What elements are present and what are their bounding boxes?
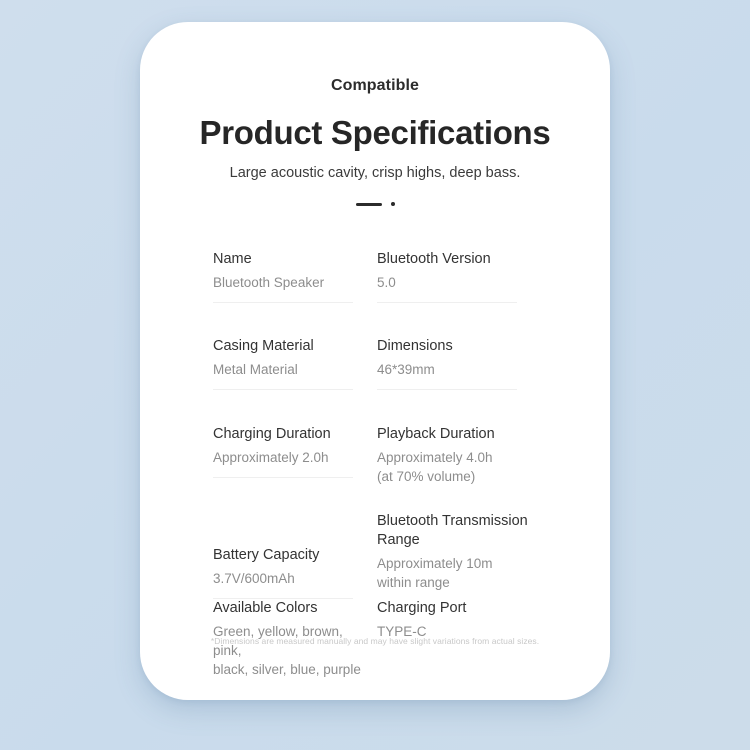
spec-value: Metal Material (213, 360, 365, 379)
dot-icon (391, 202, 395, 206)
table-row: Battery Capacity 3.7V/600mAh Bluetooth T… (213, 512, 541, 599)
spec-value: 46*39mm (377, 360, 529, 379)
table-row: Charging Duration Approximately 2.0h Pla… (213, 425, 541, 512)
cell-separator (377, 496, 517, 497)
spec-value: Bluetooth Speaker (213, 273, 365, 292)
spec-cell-available-colors: Available Colors Green, yellow, brown, p… (213, 599, 377, 669)
spec-cell-bluetooth-transmission-range: Bluetooth Transmission Range Approximate… (377, 512, 541, 599)
spec-label: Charging Port (377, 599, 529, 622)
page-subtitle: Large acoustic cavity, crisp highs, deep… (140, 165, 610, 181)
spec-label: Playback Duration (377, 425, 529, 448)
footnote: *Dimensions are measured manually and ma… (140, 636, 610, 646)
cell-separator (377, 389, 517, 390)
spec-label: Dimensions (377, 337, 529, 360)
spec-value: 5.0 (377, 273, 529, 292)
page-title: Product Specifications (140, 114, 610, 152)
spec-cell-bluetooth-version: Bluetooth Version 5.0 (377, 250, 541, 337)
spec-label: Casing Material (213, 337, 365, 360)
product-specifications-card: Compatible Product Specifications Large … (140, 22, 610, 700)
spec-label: Bluetooth Version (377, 250, 529, 273)
eyebrow-label: Compatible (140, 77, 610, 95)
table-row: Name Bluetooth Speaker Bluetooth Version… (213, 250, 541, 337)
spec-cell-name: Name Bluetooth Speaker (213, 250, 377, 337)
header-divider (140, 194, 610, 214)
spec-label: Available Colors (213, 599, 365, 622)
table-row: Available Colors Green, yellow, brown, p… (213, 599, 541, 669)
spec-value: Green, yellow, brown, pink,black, silver… (213, 622, 365, 679)
spec-cell-casing-material: Casing Material Metal Material (213, 337, 377, 425)
spec-label: Charging Duration (213, 425, 365, 448)
spec-cell-charging-port: Charging Port TYPE-C (377, 599, 541, 669)
spec-value: Approximately 2.0h (213, 448, 365, 467)
spec-label: Name (213, 250, 365, 273)
dash-icon (356, 203, 382, 206)
spec-label: Battery Capacity (213, 546, 365, 569)
spec-value: 3.7V/600mAh (213, 569, 365, 588)
table-row: Casing Material Metal Material Dimension… (213, 337, 541, 425)
specifications-table: Name Bluetooth Speaker Bluetooth Version… (213, 250, 541, 669)
cell-separator (213, 389, 353, 390)
spec-label: Bluetooth Transmission Range (377, 512, 529, 554)
cell-separator (377, 302, 517, 303)
cell-separator (213, 477, 353, 478)
cell-separator (213, 302, 353, 303)
spec-cell-playback-duration: Playback Duration Approximately 4.0h(at … (377, 425, 541, 512)
spec-cell-charging-duration: Charging Duration Approximately 2.0h (213, 425, 377, 512)
spec-cell-dimensions: Dimensions 46*39mm (377, 337, 541, 425)
page-background: Compatible Product Specifications Large … (0, 0, 750, 750)
spec-value: Approximately 10mwithin range (377, 554, 529, 592)
spec-value: Approximately 4.0h(at 70% volume) (377, 448, 529, 486)
spec-cell-battery-capacity: Battery Capacity 3.7V/600mAh (213, 512, 377, 599)
